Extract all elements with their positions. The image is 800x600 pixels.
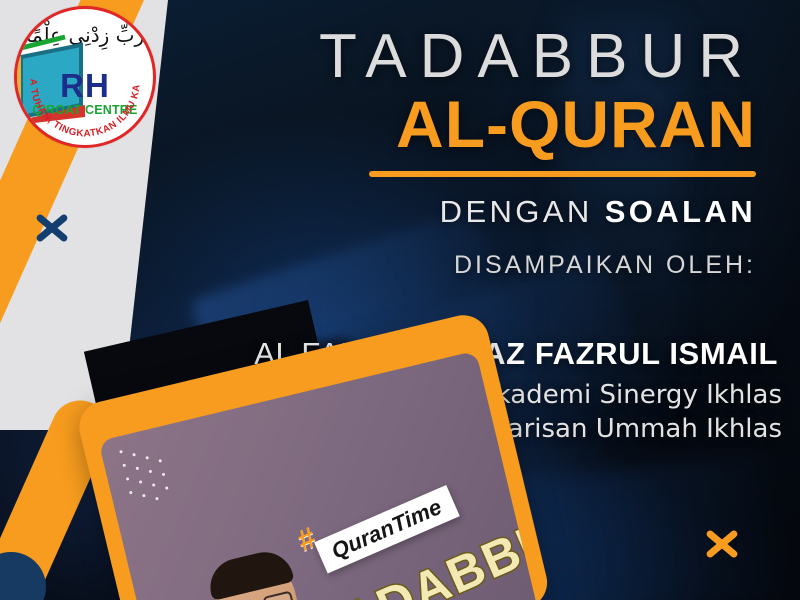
svg-text:YA TUHAN, TINGKATKAN ILMU KAMI: YA TUHAN, TINGKATKAN ILMU KAMI [17,9,143,139]
subheading: DENGAN SOALAN [236,194,756,230]
logo-motto-text: YA TUHAN, TINGKATKAN ILMU KAMI [17,9,143,139]
rh-qiroat-centre-logo: رَبِّ زِدْنِي عِلْمًا RH QIROAT CENTRE Y… [14,6,156,148]
cross-mark-right-icon [700,522,744,566]
cross-mark-left-icon [30,206,74,250]
subheading-emphasis: SOALAN [605,194,756,229]
headline-block: TADABBUR AL-QURAN DENGAN SOALAN DISAMPAI… [236,24,756,280]
subheading-prefix: DENGAN [440,194,605,229]
orange-divider-rule [369,171,756,177]
poster-canvas: رَبِّ زِدْنِي عِلْمًا RH QIROAT CENTRE Y… [0,0,800,600]
logo-motto-curved-text: YA TUHAN, TINGKATKAN ILMU KAMI [17,9,153,145]
dot-pattern-decoration [119,435,198,511]
presented-by-label: DISAMPAIKAN OLEH: [236,251,756,280]
headline-line-1: TADABBUR [236,24,756,89]
promo-card-inner: # QuranTime TADABBUR [98,351,546,600]
headline-line-2: AL-QURAN [236,91,756,157]
